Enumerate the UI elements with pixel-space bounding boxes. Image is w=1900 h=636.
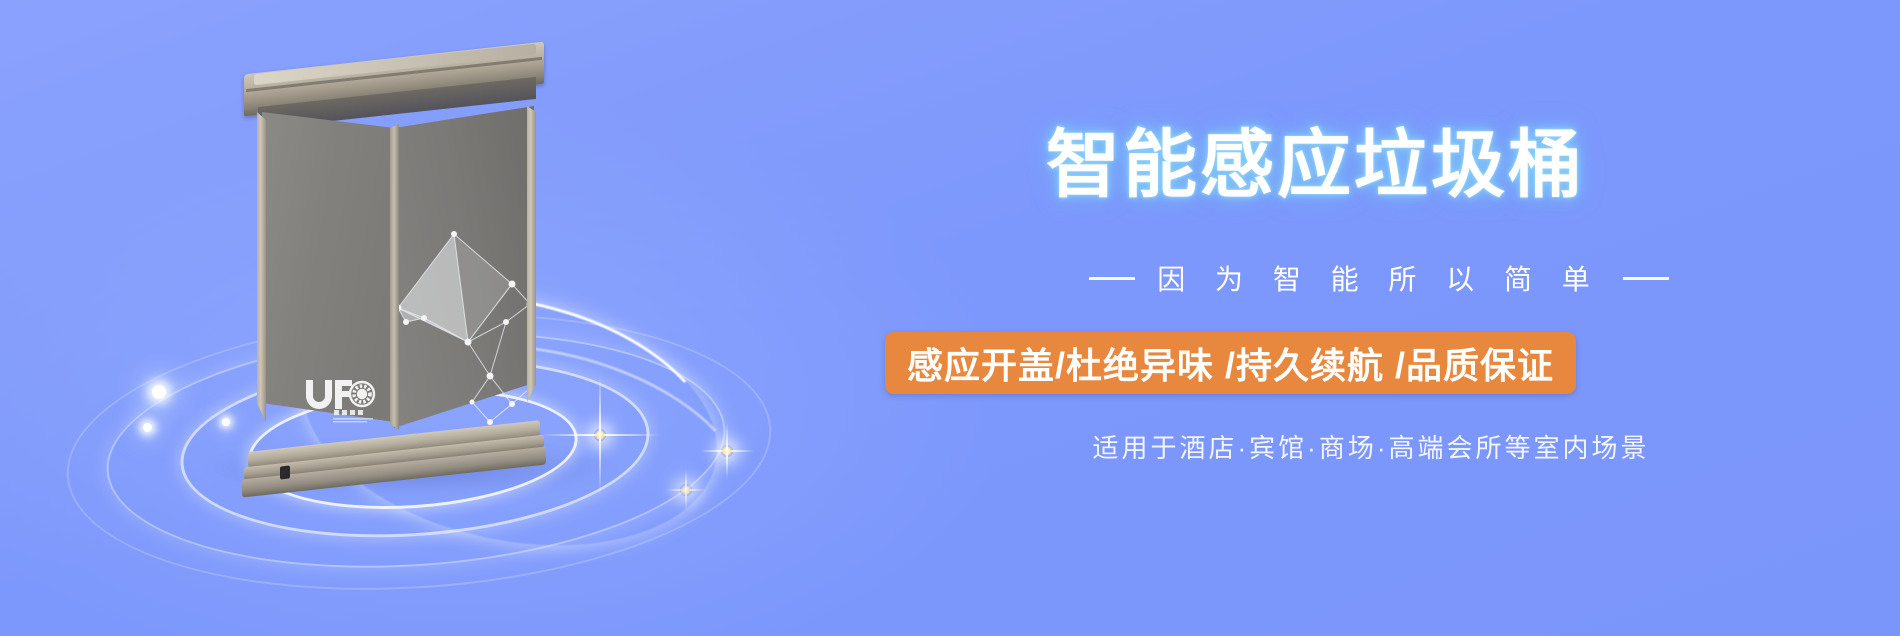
- sparkle-core: [594, 429, 606, 441]
- tagline-text: 因 为 智 能 所 以 简 单: [1157, 258, 1600, 298]
- body-edge-left: [257, 112, 266, 422]
- sparkle-star-medium: [700, 424, 754, 478]
- feature-highlight-text: 感应开盖/杜绝异味 /持久续航 /品质保证: [907, 337, 1554, 389]
- usage-scenes-text: 适用于酒店·宾馆·商场·高端会所等室内场景: [1093, 433, 1650, 463]
- brand-logo: [304, 378, 376, 424]
- trash-can-base: [244, 436, 544, 496]
- body-edge-center: [390, 106, 399, 430]
- tagline-row: 因 为 智 能 所 以 简 单: [880, 258, 1900, 298]
- ufo-logo-svg: [304, 378, 376, 424]
- glow-dot-3: [222, 418, 230, 426]
- sensor-window: [280, 465, 290, 479]
- glow-dot-2: [143, 423, 152, 432]
- trash-can-body: [262, 106, 534, 446]
- headline-title: 智能感应垃圾桶: [1046, 128, 1585, 202]
- product-stage: [0, 0, 860, 636]
- polygon-network-graphic: [394, 226, 540, 426]
- body-edge-right: [527, 106, 536, 402]
- trash-can-product-image: [248, 58, 548, 458]
- sparkle-core: [721, 445, 733, 457]
- tagline-rule-right: [1623, 277, 1669, 280]
- product-promo-banner: 智能感应垃圾桶 因 为 智 能 所 以 简 单 感应开盖/杜绝异味 /持久续航 …: [0, 0, 1900, 636]
- tagline-rule-left: [1089, 277, 1135, 280]
- marketing-copy-block: 智能感应垃圾桶 因 为 智 能 所 以 简 单 感应开盖/杜绝异味 /持久续航 …: [880, 0, 1900, 636]
- glow-dot-1: [152, 385, 166, 399]
- sparkle-core: [680, 484, 692, 496]
- body-face-left: [262, 106, 394, 422]
- feature-highlight-bar: 感应开盖/杜绝异味 /持久续航 /品质保证: [885, 332, 1576, 394]
- sparkle-star-small: [666, 470, 706, 510]
- usage-scenes-row: 适用于酒店·宾馆·商场·高端会所等室内场景: [880, 428, 1900, 465]
- sparkle-star-large: [540, 375, 660, 495]
- polygon-network-svg: [394, 226, 540, 426]
